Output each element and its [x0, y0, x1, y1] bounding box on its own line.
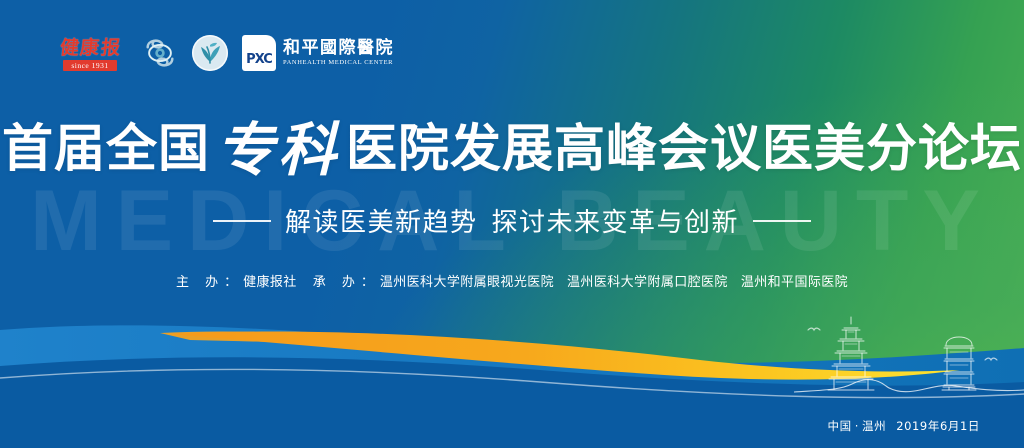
panhealth-badge: PXC — [242, 35, 276, 71]
health-news-char-2: 康 — [79, 38, 100, 58]
host-label: 主 办： — [176, 275, 243, 290]
banner-subtitle: 解读医美新趋势探讨未来变革与创新 — [0, 202, 1024, 239]
conference-banner: MEDICAL BEAUTY 健 康 报 since 1931 — [0, 0, 1024, 448]
footer-country: 中国 — [828, 419, 852, 433]
bird-icons — [808, 328, 997, 360]
panhealth-logo: PXC 和平國際醫院 PANHEALTH MEDICAL CENTER — [242, 35, 394, 71]
banner-title: 首届全国专科医院发展高峰会议医美分论坛 — [0, 119, 1024, 181]
footer-separator: · — [855, 419, 859, 433]
organizer-line: 主 办：健康报社承 办：温州医科大学附属眼视光医院温州医科大学附属口腔医院温州和… — [0, 271, 1024, 290]
coorganizer-label: 承 办： — [313, 275, 380, 290]
health-news-logo: 健 康 报 since 1931 — [52, 33, 128, 73]
subtitle-right-text: 探讨未来变革与创新 — [492, 208, 740, 238]
title-brush-segment: 专科 — [210, 116, 346, 184]
coorganizer-1: 温州医科大学附属眼视光医院 — [380, 275, 554, 290]
subtitle-left-text: 解读医美新趋势 — [285, 208, 478, 238]
panhealth-name-en: PANHEALTH MEDICAL CENTER — [283, 58, 394, 68]
subtitle-rule-right — [753, 220, 811, 222]
footer-date: 2019年6月1日 — [896, 419, 980, 433]
coorganizer-3: 温州和平国际医院 — [741, 275, 848, 290]
health-news-char-1: 健 — [59, 38, 80, 58]
pagoda-right — [942, 337, 976, 390]
panhealth-badge-text: PXC — [246, 52, 272, 67]
title-segment-2: 医院发展高峰会议医美分论坛 — [346, 120, 1022, 179]
panhealth-text-block: 和平國際醫院 PANHEALTH MEDICAL CENTER — [283, 38, 394, 68]
title-segment-1: 首届全国 — [2, 120, 210, 179]
host-value: 健康报社 — [243, 275, 297, 290]
event-location-date: 中国·温州2019年6月1日 — [828, 418, 980, 434]
pagoda-left — [828, 317, 874, 390]
footer-city: 温州 — [862, 419, 886, 433]
health-news-since-label: since 1931 — [63, 60, 116, 71]
subtitle-rule-left — [213, 220, 271, 222]
health-news-characters: 健 康 报 — [60, 36, 119, 58]
logo-row: 健 康 报 since 1931 — [52, 33, 394, 73]
stomatology-hospital-logo-icon — [192, 35, 228, 71]
health-news-char-3: 报 — [99, 38, 120, 58]
skyline-illustration — [794, 300, 1024, 410]
panhealth-name-cn: 和平國際醫院 — [283, 38, 394, 58]
eye-hospital-logo-icon — [142, 35, 178, 71]
coorganizer-2: 温州医科大学附属口腔医院 — [567, 275, 728, 290]
